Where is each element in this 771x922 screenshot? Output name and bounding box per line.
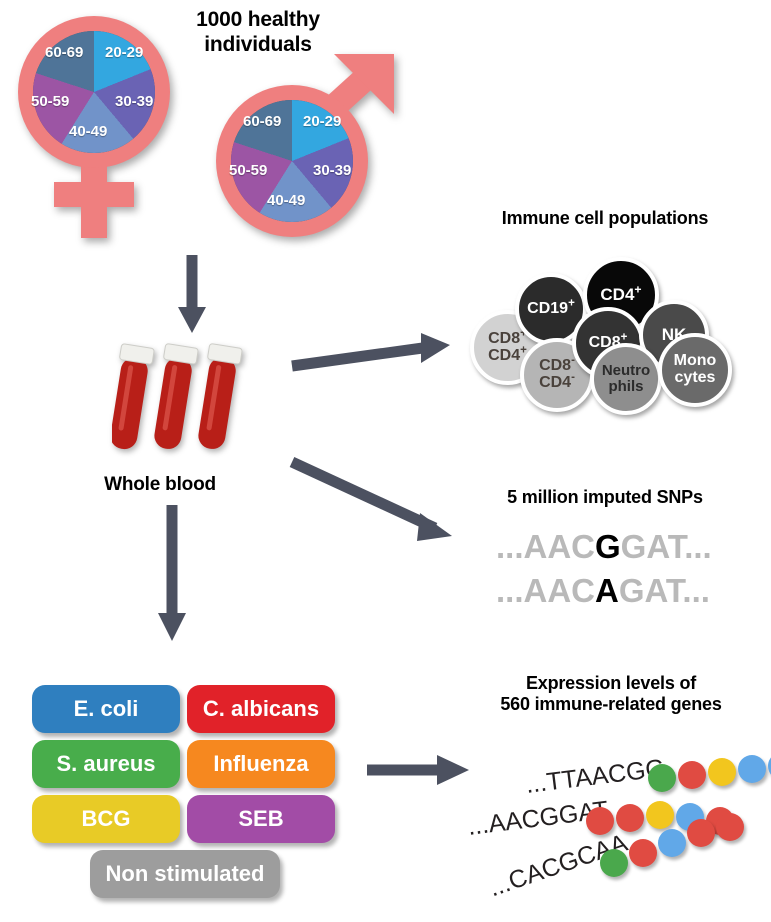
immune-cell-label: Neutrophils [602,363,650,395]
stimulus-influenza[interactable]: Influenza [187,740,335,788]
stimulus-label: BCG [82,806,131,832]
stimulus-label: Influenza [213,751,308,777]
stimulus-c-albicans[interactable]: C. albicans [187,685,335,733]
expression-strands: ...TTAACGG ...AACGGAT ...CACGCAA [460,745,771,920]
snp-variant-base: A [595,572,619,609]
immune-cell-cluster: CD8+ CD4+ CD19+ CD4+ CD8- CD4- CD8+ [455,245,755,410]
stimulus-seb[interactable]: SEB [187,795,335,843]
snp-prefix: ...AAC [496,572,595,609]
female-pie-label-40-49: 40-49 [69,123,107,140]
snps-title: 5 million imputed SNPs [450,487,760,508]
stimulus-s-aureus[interactable]: S. aureus [32,740,180,788]
snp-suffix: GAT... [621,528,712,565]
female-pie-label-30-39: 30-39 [115,93,153,110]
male-pie-label-50-59: 50-59 [229,162,267,179]
stimuli-panel: E. coli C. albicans S. aureus Influenza … [32,685,342,895]
immune-cell-label: CD8- CD4- [539,358,575,392]
male-pie-label-30-39: 30-39 [313,162,351,179]
snp-variant-base: G [595,528,621,565]
whole-blood-label: Whole blood [60,474,260,496]
expression-bead [629,839,657,867]
expression-bead [616,804,644,832]
expression-bead [648,764,676,792]
expression-bead [716,813,744,841]
male-pie-label-40-49: 40-49 [267,192,305,209]
immune-cell-label: Monocytes [674,353,717,387]
stimulus-e-coli[interactable]: E. coli [32,685,180,733]
stimulus-label: C. albicans [203,696,319,722]
expression-bead [738,755,766,783]
female-pie-label-60-69: 60-69 [45,44,83,61]
stimulus-label: Non stimulated [106,861,265,887]
expression-bead [658,829,686,857]
stimulus-label: S. aureus [56,751,155,777]
male-gender-symbol: 20-29 30-39 40-49 50-59 60-69 [208,52,408,242]
male-pie-label-60-69: 60-69 [243,113,281,130]
immune-cell-monocytes: Monocytes [658,333,732,407]
immune-cell-populations-title: Immune cell populations [440,208,770,229]
stimulus-bcg[interactable]: BCG [32,795,180,843]
female-symbol-crossbar [54,182,134,207]
female-gender-symbol: 20-29 30-39 40-49 50-59 60-69 [10,8,200,238]
immune-cell-label: CD8+ CD4+ [488,331,527,365]
expression-title-line-1: Expression levels of [455,673,767,694]
figure-canvas: 1000 healthy individuals 20-29 30-39 40-… [0,0,771,922]
immune-cell-neutrophils: Neutrophils [590,343,662,415]
snp-suffix: GAT... [619,572,710,609]
stimulus-non-stimulated[interactable]: Non stimulated [90,850,280,898]
snp-prefix: ...AAC [496,528,595,565]
arrow-stimuli-to-expression [365,750,475,790]
male-pie-label-20-29: 20-29 [303,113,341,130]
arrow-blood-to-snps [290,440,470,550]
arrow-blood-to-stimuli [155,505,195,645]
expression-title-line-2: 560 immune-related genes [455,694,767,715]
expression-bead [678,761,706,789]
snp-allele-row-1: ...AACGGAT... [496,528,712,566]
female-pie-label-20-29: 20-29 [105,44,143,61]
expression-title: Expression levels of 560 immune-related … [455,673,767,715]
immune-cell-label: CD4+ [600,286,641,304]
arrow-blood-to-immune-cells [290,330,460,380]
strand-sequence-1: ...TTAACGG [524,754,666,800]
blood-tubes-icon [112,340,252,465]
stimulus-label: SEB [238,806,283,832]
female-pie-label-50-59: 50-59 [31,93,69,110]
snp-allele-row-2: ...AACAGAT... [496,572,710,610]
expression-bead [600,849,628,877]
expression-bead [687,819,715,847]
arrow-cohort-to-blood [175,255,215,335]
immune-cell-label: CD19+ [527,301,575,318]
expression-bead [586,807,614,835]
expression-bead [708,758,736,786]
expression-bead [646,801,674,829]
stimulus-label: E. coli [74,696,139,722]
